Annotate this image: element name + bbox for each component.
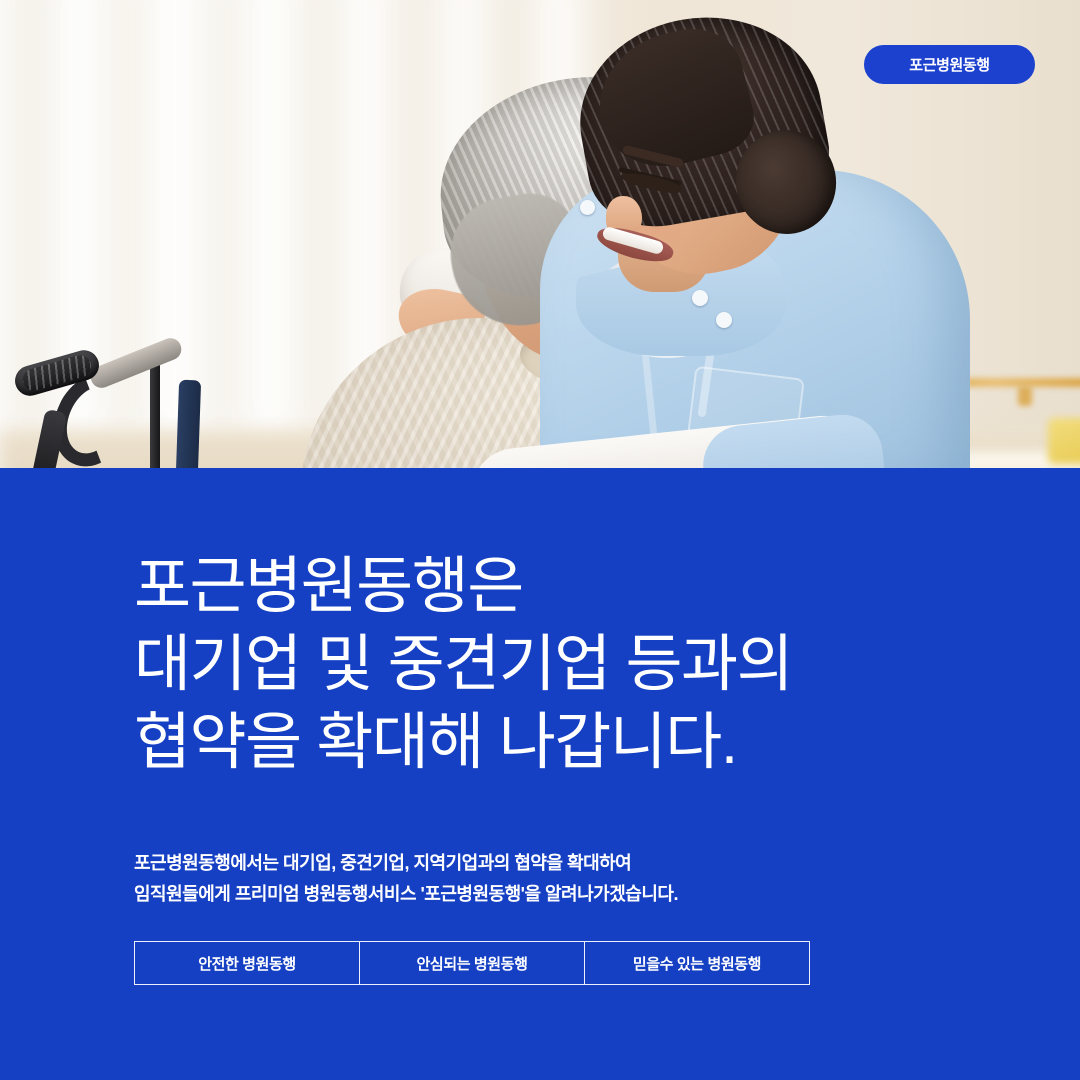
feature-tag-bar: 안전한 병원동행 안심되는 병원동행 믿을수 있는 병원동행 xyxy=(134,941,810,985)
description-text: 포근병원동행에서는 대기업, 중견기업, 지역기업과의 협약을 확대하여 임직원… xyxy=(134,848,954,910)
feature-tag-safe[interactable]: 안전한 병원동행 xyxy=(135,942,359,984)
page-title: 포근병원동행은 대기업 및 중견기업 등과의 협약을 확대해 나갑니다. xyxy=(134,548,994,782)
caregiver-shoulder-button xyxy=(580,200,595,215)
poster-canvas: 포근병원동행 포근병원동행은 대기업 및 중견기업 등과의 협약을 확대해 나갑… xyxy=(0,0,1080,1080)
caregiver-uniform-button-1 xyxy=(692,290,708,306)
yellow-object xyxy=(1048,418,1080,464)
caregiver-uniform-button-2 xyxy=(716,312,732,328)
feature-tag-relief[interactable]: 안심되는 병원동행 xyxy=(359,942,584,984)
feature-tag-trust[interactable]: 믿을수 있는 병원동행 xyxy=(584,942,809,984)
rail-peg-right xyxy=(1018,386,1032,406)
brand-badge[interactable]: 포근병원동행 xyxy=(864,45,1035,84)
